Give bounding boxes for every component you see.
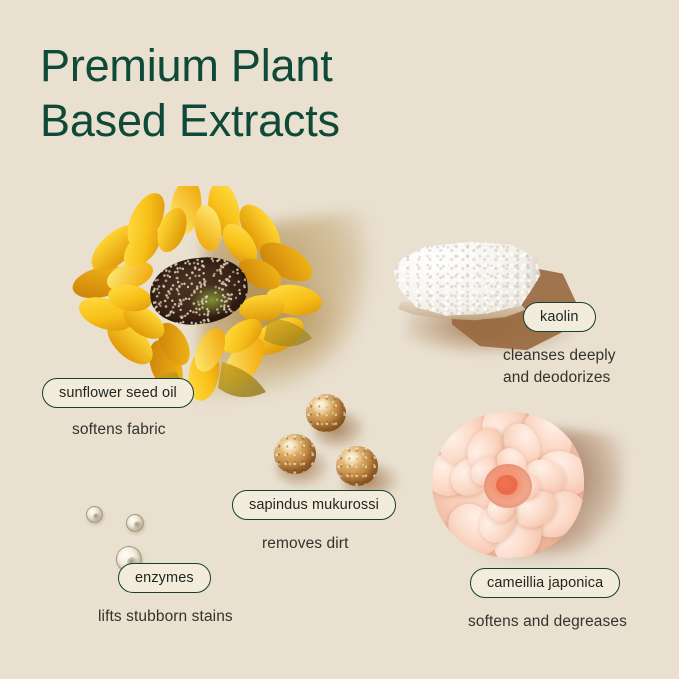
soap-nut-highlight	[282, 440, 302, 455]
soap-nut-highlight	[344, 452, 363, 467]
soap-nut	[274, 434, 316, 474]
caption-sunflower-seed-oil: softens fabric	[72, 419, 166, 441]
soap-nut-highlight	[313, 399, 333, 415]
soap-nut	[306, 394, 346, 432]
caption-kaolin: cleanses deeply and deodorizes	[503, 345, 616, 389]
kaolin-clay-image	[392, 240, 592, 355]
caption-sapindus-mukurossi: removes dirt	[262, 533, 348, 555]
caption-enzymes: lifts stubborn stains	[98, 606, 233, 628]
camellia-bloom	[432, 412, 584, 558]
pill-enzymes[interactable]: enzymes	[118, 563, 211, 593]
enzyme-bead	[86, 506, 103, 523]
page-title: Premium Plant Based Extracts	[40, 38, 510, 149]
pill-sunflower-seed-oil[interactable]: sunflower seed oil	[42, 378, 194, 408]
enzyme-bead	[126, 514, 144, 532]
caption-cameillia-japonica: softens and degreases	[468, 611, 627, 633]
camellia-flower-image	[432, 408, 622, 568]
pill-kaolin[interactable]: kaolin	[523, 302, 596, 332]
soap-nuts-image	[278, 394, 408, 496]
plant-extracts-infographic: Premium Plant Based Extracts	[0, 0, 679, 679]
pill-sapindus-mukurossi[interactable]: sapindus mukurossi	[232, 490, 396, 520]
camellia-core-inner	[496, 475, 518, 495]
soap-nut	[336, 446, 378, 486]
sunflower-image	[72, 186, 352, 401]
pill-cameillia-japonica[interactable]: cameillia japonica	[470, 568, 620, 598]
